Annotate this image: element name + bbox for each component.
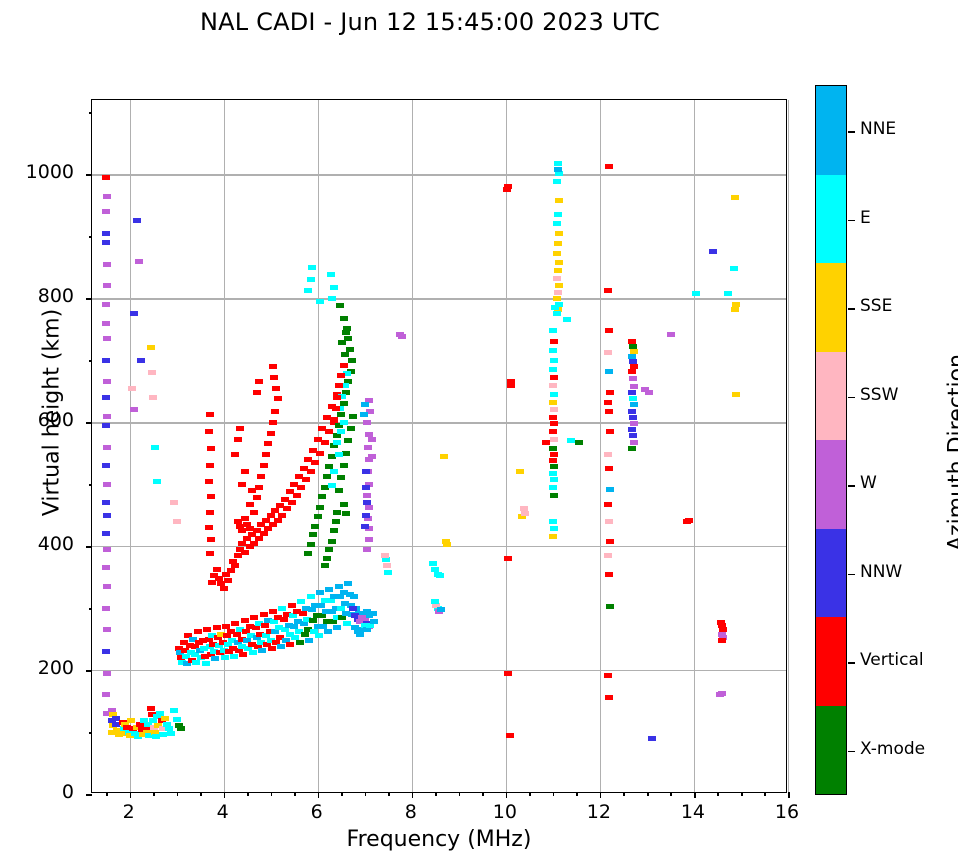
data-point: [133, 218, 141, 223]
data-point: [241, 550, 249, 555]
data-point: [718, 691, 726, 696]
data-point: [288, 603, 296, 608]
data-point: [250, 615, 258, 620]
colorbar-label-w: W: [860, 473, 877, 493]
data-point: [604, 502, 612, 507]
colorbar-tick: [848, 308, 855, 310]
data-point: [554, 241, 562, 246]
gridline-vertical: [788, 100, 789, 792]
data-point: [272, 386, 280, 391]
data-point: [549, 471, 557, 476]
data-point: [553, 311, 561, 316]
data-point: [102, 531, 110, 536]
data-point: [332, 519, 340, 524]
data-point: [340, 316, 348, 321]
data-point: [549, 400, 557, 405]
data-point: [629, 376, 637, 381]
data-point: [315, 633, 323, 638]
y-tick-label: 400: [0, 533, 74, 555]
data-point: [365, 505, 373, 510]
colorbar-segment-x-mode: [816, 706, 846, 795]
y-tick-label: 600: [0, 409, 74, 431]
data-point: [542, 440, 550, 445]
data-point: [283, 506, 291, 511]
data-point: [311, 460, 319, 465]
colorbar-tick: [848, 220, 855, 222]
data-point: [309, 532, 317, 537]
data-point: [255, 536, 263, 541]
x-tick: [224, 792, 226, 798]
plot-area: [91, 99, 787, 793]
data-point: [102, 175, 110, 180]
data-point: [605, 572, 613, 577]
data-point: [340, 502, 348, 507]
data-point: [231, 621, 239, 626]
data-point: [309, 618, 317, 623]
data-point: [277, 644, 285, 649]
data-point: [302, 477, 310, 482]
data-point: [431, 599, 439, 604]
data-point: [605, 466, 613, 471]
data-point: [606, 390, 614, 395]
data-point: [211, 656, 219, 661]
data-point: [550, 339, 558, 344]
x-tick: [506, 792, 508, 798]
data-point: [207, 537, 215, 542]
data-point: [549, 429, 557, 434]
data-point: [336, 303, 344, 308]
data-point: [241, 469, 249, 474]
data-point: [630, 421, 638, 426]
x-tick-minor: [153, 792, 155, 796]
x-tick-minor: [365, 792, 367, 796]
data-point: [321, 440, 329, 445]
data-point: [255, 485, 263, 490]
x-tick-minor: [247, 792, 249, 796]
data-point: [325, 547, 333, 552]
data-point: [605, 519, 613, 524]
data-point: [147, 706, 155, 711]
data-point: [628, 409, 636, 414]
data-point: [361, 402, 369, 407]
data-point: [606, 429, 614, 434]
data-point: [103, 627, 111, 632]
colorbar-label-sse: SSE: [860, 296, 892, 316]
data-point: [280, 617, 288, 622]
data-point: [356, 632, 364, 637]
data-point: [102, 302, 110, 307]
data-point: [333, 510, 341, 515]
data-point: [270, 619, 278, 624]
data-point: [363, 420, 371, 425]
data-point: [628, 427, 636, 432]
x-tick-minor: [388, 792, 390, 796]
x-tick-minor: [271, 792, 273, 796]
y-tick-label: 800: [0, 285, 74, 307]
data-point: [604, 673, 612, 678]
data-point: [549, 348, 557, 353]
data-point: [213, 625, 221, 630]
data-point: [555, 260, 563, 265]
x-tick-minor: [106, 792, 108, 796]
data-point: [207, 446, 215, 451]
data-point: [338, 340, 346, 345]
data-point: [605, 369, 613, 374]
data-point: [604, 350, 612, 355]
data-point: [342, 330, 350, 335]
data-point: [606, 539, 614, 544]
data-point: [554, 167, 562, 172]
data-point: [429, 561, 437, 566]
data-point: [337, 412, 345, 417]
data-point: [437, 607, 445, 612]
data-point: [246, 502, 254, 507]
colorbar-segment-nnw: [816, 529, 846, 618]
data-point: [304, 288, 312, 293]
data-point: [575, 440, 583, 445]
data-point: [341, 352, 349, 357]
data-point: [205, 479, 213, 484]
y-tick-label: 1000: [0, 161, 74, 183]
data-point: [550, 358, 558, 363]
data-point: [563, 317, 571, 322]
data-point: [605, 695, 613, 700]
data-point: [203, 627, 211, 632]
data-point: [333, 440, 341, 445]
colorbar-segment-vertical: [816, 617, 846, 706]
data-point: [383, 563, 391, 568]
x-tick-label: 6: [287, 801, 347, 823]
x-tick-label: 14: [663, 801, 723, 823]
data-point: [148, 370, 156, 375]
data-point: [336, 594, 344, 599]
data-point: [328, 539, 336, 544]
y-tick: [86, 794, 92, 796]
data-point: [550, 464, 558, 469]
data-point: [554, 212, 562, 217]
data-point: [260, 463, 268, 468]
data-point: [296, 640, 304, 645]
data-point: [269, 609, 277, 614]
data-point: [724, 291, 732, 296]
data-point: [443, 542, 451, 547]
data-point: [330, 469, 338, 474]
data-point: [227, 568, 235, 573]
x-tick-minor: [482, 792, 484, 796]
data-point: [629, 433, 637, 438]
data-point: [102, 321, 110, 326]
data-point: [230, 654, 238, 659]
x-tick: [600, 792, 602, 798]
x-tick: [412, 792, 414, 798]
data-point: [605, 328, 613, 333]
data-point: [252, 625, 260, 630]
data-point: [629, 396, 637, 401]
data-point: [551, 305, 559, 310]
data-point: [308, 607, 316, 612]
data-point: [549, 367, 557, 372]
x-tick-minor: [294, 792, 296, 796]
data-point: [362, 485, 370, 490]
x-tick-label: 16: [757, 801, 817, 823]
data-point: [249, 650, 257, 655]
data-point: [311, 524, 319, 529]
data-point: [130, 407, 138, 412]
data-point: [350, 594, 358, 599]
data-point: [553, 276, 561, 281]
data-point: [516, 469, 524, 474]
data-point: [550, 407, 558, 412]
data-point: [362, 469, 370, 474]
colorbar-segment-e: [816, 175, 846, 264]
data-point: [550, 421, 558, 426]
data-point: [153, 479, 161, 484]
x-tick-minor: [717, 792, 719, 796]
data-point: [258, 648, 266, 653]
data-point: [103, 194, 111, 199]
data-point: [103, 262, 111, 267]
data-point: [363, 493, 371, 498]
data-point: [340, 363, 348, 368]
data-point: [103, 671, 111, 676]
data-point: [567, 438, 575, 443]
data-point: [269, 522, 277, 527]
data-point: [550, 375, 558, 380]
data-point: [342, 511, 350, 516]
data-point: [270, 375, 278, 380]
data-point: [328, 483, 336, 488]
x-tick-minor: [459, 792, 461, 796]
data-point: [731, 195, 739, 200]
data-point: [305, 638, 313, 643]
data-point: [205, 429, 213, 434]
data-point: [718, 638, 726, 643]
data-point: [731, 307, 739, 312]
data-point: [382, 557, 390, 562]
x-tick-label: 2: [99, 801, 159, 823]
data-point: [337, 373, 345, 378]
colorbar-tick: [848, 397, 855, 399]
x-tick: [130, 792, 132, 798]
x-tick-minor: [341, 792, 343, 796]
data-point: [170, 708, 178, 713]
x-tick-minor: [200, 792, 202, 796]
data-point: [555, 283, 563, 288]
data-point: [300, 621, 308, 626]
data-point: [192, 660, 200, 665]
data-point: [208, 580, 216, 585]
data-point: [261, 623, 269, 628]
data-point: [286, 642, 294, 647]
data-point: [221, 655, 229, 660]
data-point: [202, 661, 210, 666]
data-point: [293, 493, 301, 498]
colorbar-label-e: E: [860, 208, 871, 228]
data-point: [349, 414, 357, 419]
data-point: [271, 409, 279, 414]
data-point: [102, 423, 110, 428]
x-tick-minor: [623, 792, 625, 796]
colorbar-title: Azimuth Direction: [945, 253, 958, 653]
data-point: [224, 578, 232, 583]
data-point: [269, 364, 277, 369]
data-point: [338, 615, 346, 620]
colorbar: [815, 85, 847, 795]
data-point: [503, 187, 511, 192]
data-point: [628, 446, 636, 451]
data-point: [333, 625, 341, 630]
data-point: [177, 726, 185, 731]
data-point: [550, 477, 558, 482]
data-point: [250, 510, 258, 515]
data-point: [173, 717, 181, 722]
data-point: [363, 627, 371, 632]
x-tick: [694, 792, 696, 798]
x-tick-minor: [576, 792, 578, 796]
data-point: [340, 420, 348, 425]
colorbar-segment-w: [816, 440, 846, 529]
data-point: [269, 420, 277, 425]
data-point: [361, 524, 369, 529]
data-point: [307, 277, 315, 282]
data-point: [130, 311, 138, 316]
data-point: [630, 440, 638, 445]
data-point: [268, 646, 276, 651]
data-point: [333, 395, 341, 400]
data-point: [730, 266, 738, 271]
data-point: [288, 500, 296, 505]
data-point: [103, 414, 111, 419]
data-point: [370, 619, 378, 624]
data-point: [267, 431, 275, 436]
x-tick-minor: [670, 792, 672, 796]
data-point: [102, 565, 110, 570]
data-point: [297, 485, 305, 490]
data-point: [262, 452, 270, 457]
data-point: [440, 454, 448, 459]
data-point: [337, 475, 345, 480]
x-tick-minor: [177, 792, 179, 796]
data-point: [308, 265, 316, 270]
data-point: [364, 445, 372, 450]
data-point: [327, 272, 335, 277]
data-point: [257, 474, 265, 479]
data-point: [340, 463, 348, 468]
data-point: [103, 336, 111, 341]
data-point: [102, 606, 110, 611]
data-point: [553, 296, 561, 301]
data-point: [102, 231, 110, 236]
data-point: [149, 395, 157, 400]
data-point: [550, 493, 558, 498]
data-point: [213, 567, 221, 572]
x-tick-label: 10: [475, 801, 535, 823]
data-point: [274, 396, 282, 401]
data-point: [550, 452, 558, 457]
data-point: [348, 358, 356, 363]
data-point: [206, 463, 214, 468]
y-tick-label: 0: [0, 781, 74, 803]
data-point: [549, 519, 557, 524]
data-point: [253, 495, 261, 500]
data-point: [436, 573, 444, 578]
data-point: [318, 494, 326, 499]
data-point: [630, 402, 638, 407]
data-point: [605, 164, 613, 169]
data-point: [335, 452, 343, 457]
data-point: [732, 392, 740, 397]
data-point: [260, 612, 268, 617]
data-point: [554, 161, 562, 166]
data-point: [167, 731, 175, 736]
data-point: [206, 412, 214, 417]
data-point: [264, 526, 272, 531]
colorbar-label-vertical: Vertical: [860, 650, 924, 670]
data-point: [231, 452, 239, 457]
data-point: [102, 209, 110, 214]
data-point: [206, 551, 214, 556]
data-point: [553, 251, 561, 256]
colorbar-tick: [848, 485, 855, 487]
y-tick-label: 200: [0, 657, 74, 679]
data-point: [685, 518, 693, 523]
data-point: [316, 505, 324, 510]
data-point: [173, 519, 181, 524]
data-point: [521, 511, 529, 516]
data-point: [344, 581, 352, 586]
data-point: [709, 249, 717, 254]
data-point: [555, 198, 563, 203]
data-point: [507, 379, 515, 384]
data-point: [629, 415, 637, 420]
data-point: [128, 386, 136, 391]
data-point: [381, 553, 389, 558]
data-point: [347, 426, 355, 431]
data-point: [328, 296, 336, 301]
colorbar-tick: [848, 751, 855, 753]
data-point: [238, 482, 246, 487]
data-point: [137, 358, 145, 363]
data-point: [250, 541, 258, 546]
data-point: [278, 606, 286, 611]
data-point: [628, 369, 636, 374]
data-point: [549, 485, 557, 490]
data-point: [550, 392, 558, 397]
data-point: [151, 445, 159, 450]
data-point: [549, 534, 557, 539]
data-point: [604, 288, 612, 293]
data-point: [549, 415, 557, 420]
data-point: [337, 429, 345, 434]
data-point: [641, 387, 649, 392]
colorbar-segment-ssw: [816, 352, 846, 441]
data-point: [335, 488, 343, 493]
data-point: [332, 406, 340, 411]
data-point: [554, 268, 562, 273]
data-point: [316, 590, 324, 595]
data-point: [363, 500, 371, 505]
colorbar-label-nne: NNE: [860, 119, 896, 139]
data-point: [692, 291, 700, 296]
data-canvas: [92, 100, 786, 792]
data-point: [103, 547, 111, 552]
data-point: [307, 594, 315, 599]
data-point: [324, 629, 332, 634]
data-point: [301, 632, 309, 637]
data-point: [384, 570, 392, 575]
colorbar-tick: [848, 662, 855, 664]
data-point: [604, 452, 612, 457]
